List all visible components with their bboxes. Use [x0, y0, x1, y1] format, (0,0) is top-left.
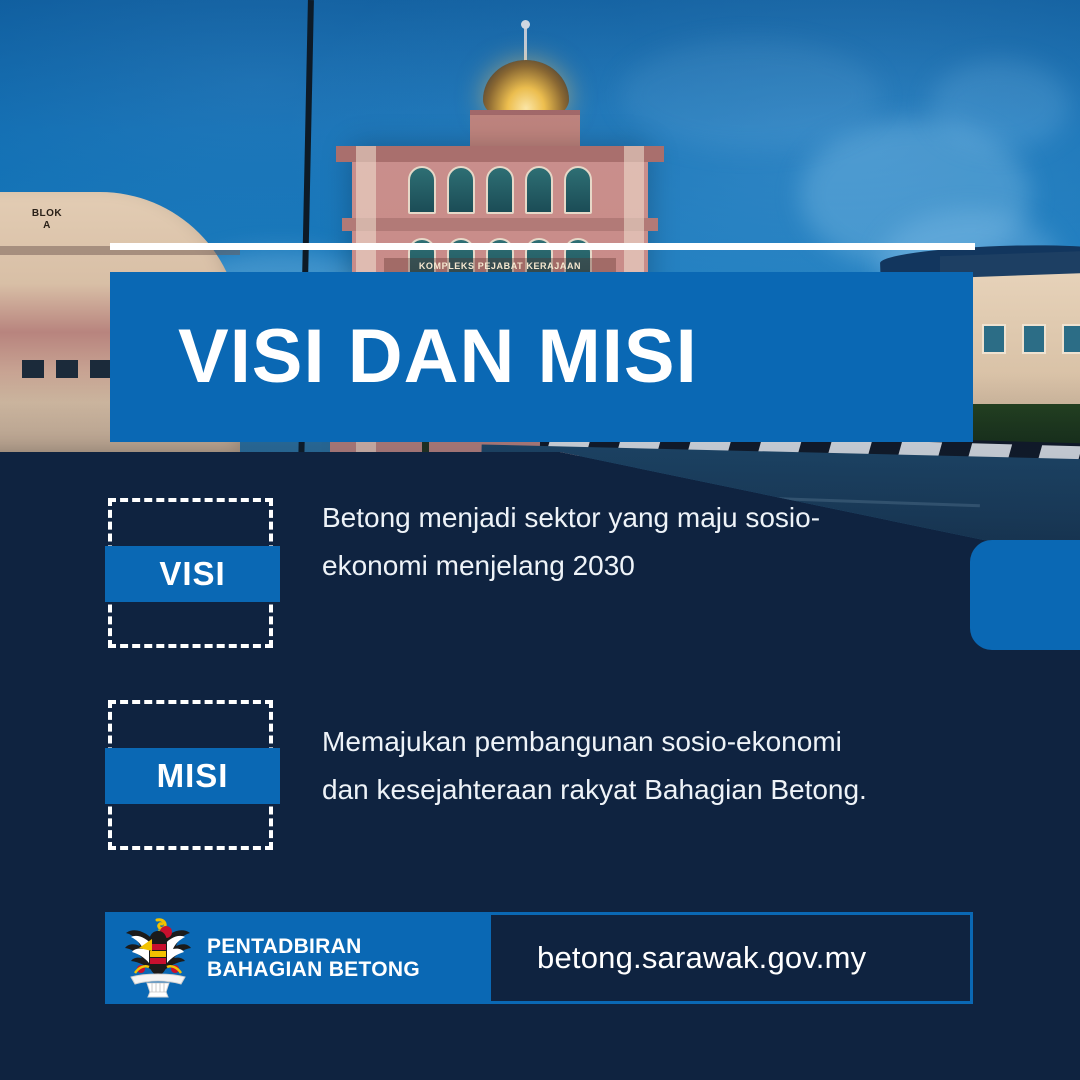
- website-url-box[interactable]: betong.sarawak.gov.my: [488, 912, 973, 1004]
- brand-text: PENTADBIRAN BAHAGIAN BETONG: [207, 935, 420, 981]
- brand-line-1: PENTADBIRAN: [207, 935, 420, 958]
- footer-bar: PENTADBIRAN BAHAGIAN BETONG betong.saraw…: [105, 912, 973, 1004]
- misi-tag: MISI: [105, 748, 280, 804]
- visi-tag: VISI: [105, 546, 280, 602]
- accent-shape-right: [970, 540, 1080, 650]
- page-title: VISI DAN MISI: [110, 319, 698, 395]
- brand-line-2: BAHAGIAN BETONG: [207, 958, 420, 981]
- sarawak-coat-of-arms-icon: [121, 917, 195, 999]
- website-url-text: betong.sarawak.gov.my: [491, 940, 866, 976]
- brand-block: PENTADBIRAN BAHAGIAN BETONG: [105, 912, 488, 1004]
- visi-text: Betong menjadi sektor yang maju sosio-ek…: [322, 494, 882, 590]
- misi-text: Memajukan pembangunan sosio-ekonomi dan …: [322, 718, 882, 814]
- title-banner: VISI DAN MISI: [110, 272, 973, 442]
- poster-canvas: KOMPLEKS PEJABAT KERAJAAN BLOK A: [0, 0, 1080, 1080]
- title-rule: [110, 243, 975, 250]
